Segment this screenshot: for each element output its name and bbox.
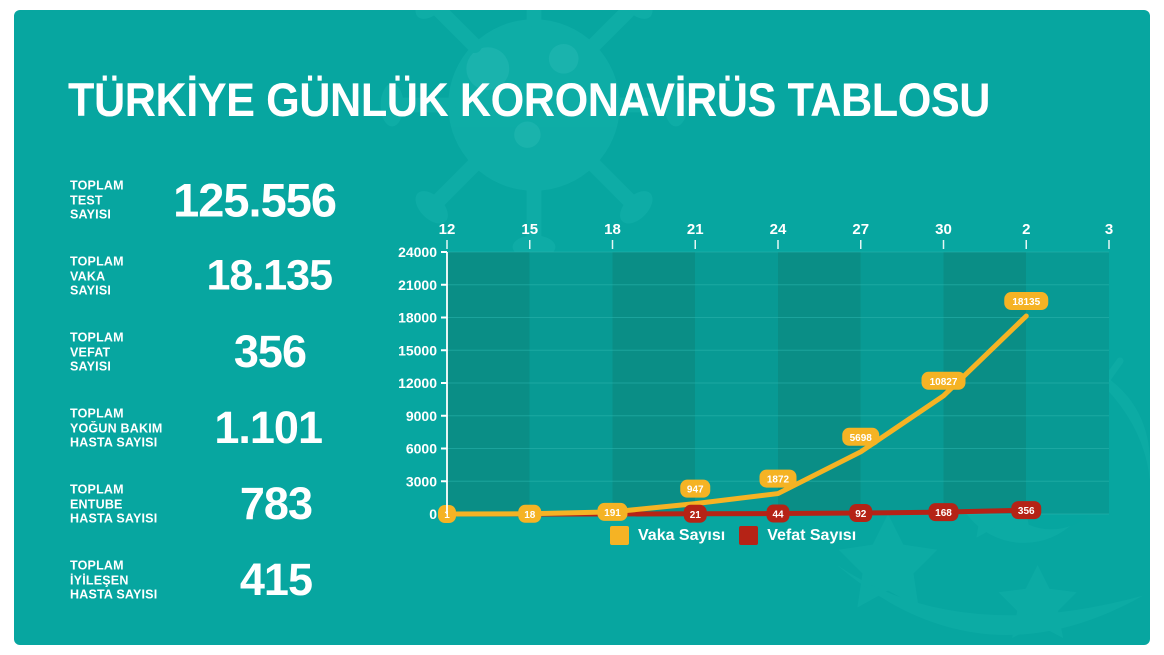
stat-value: 18.135 — [206, 252, 332, 301]
x-axis-tick-label: 21 — [687, 221, 704, 238]
data-point-label: 356 — [1018, 506, 1035, 517]
y-axis-tick-label: 15000 — [398, 342, 437, 358]
data-point-label: 168 — [935, 508, 952, 519]
y-axis-tick-label: 12000 — [398, 375, 437, 391]
page-title: TÜRKİYE GÜNLÜK KORONAVİRÜS TABLOSU — [68, 72, 990, 127]
y-axis-tick-label: 21000 — [398, 277, 437, 293]
stat-label: TOPLAM ENTUBE HASTA SAYISI — [70, 482, 157, 526]
y-axis-tick-label: 18000 — [398, 310, 437, 326]
y-axis-tick-label: 9000 — [406, 408, 437, 424]
square-swatch-icon — [610, 526, 629, 545]
x-axis-tick-label: 18 — [604, 221, 621, 238]
stat-value: 783 — [240, 478, 312, 530]
data-point-label: 10827 — [930, 377, 958, 388]
data-point-label: 191 — [604, 508, 621, 519]
stat-label: TOPLAM YOĞUN BAKIM HASTA SAYISI — [70, 406, 162, 450]
x-axis-tick-label: 27 — [852, 221, 869, 238]
stat-value: 356 — [234, 326, 306, 378]
x-axis-tick-label: 15 — [521, 221, 538, 238]
data-point-label: 92 — [855, 509, 867, 520]
data-point-label: 21 — [690, 510, 702, 521]
legend-label: Vefat Sayısı — [767, 527, 856, 545]
x-axis-tick-label: 2 — [1022, 221, 1030, 238]
x-axis-tick-label: 3 — [1105, 221, 1113, 238]
stat-value: 1.101 — [214, 402, 322, 454]
y-axis-tick-label: 24000 — [398, 244, 437, 260]
stat-block-total-cases: TOPLAM VAKA SAYISI 18.135 — [54, 238, 344, 314]
y-axis-tick-label: 6000 — [406, 441, 437, 457]
stat-block-intubated: TOPLAM ENTUBE HASTA SAYISI 783 — [54, 466, 344, 542]
stat-label: TOPLAM İYİLEŞEN HASTA SAYISI — [70, 558, 157, 602]
stat-value: 415 — [240, 554, 312, 606]
data-point-label: 1872 — [767, 475, 790, 486]
data-point-label: 44 — [772, 510, 784, 521]
stat-block-recovered: TOPLAM İYİLEŞEN HASTA SAYISI 415 — [54, 542, 344, 618]
stat-block-intensive-care: TOPLAM YOĞUN BAKIM HASTA SAYISI 1.101 — [54, 390, 344, 466]
stat-label: TOPLAM VAKA SAYISI — [70, 254, 124, 298]
x-axis-tick-label: 24 — [770, 221, 787, 238]
x-axis-tick-label: 12 — [439, 221, 456, 238]
data-point-label: 18 — [524, 510, 536, 521]
x-axis-tick-label: 30 — [935, 221, 952, 238]
dashboard-card: TÜRKİYE GÜNLÜK KORONAVİRÜS TABLOSU TOPLA… — [14, 10, 1150, 645]
legend-label: Vaka Sayısı — [638, 527, 725, 545]
data-point-label: 947 — [687, 485, 704, 496]
legend-item-deaths: Vefat Sayısı — [739, 526, 856, 545]
y-axis-tick-label: 3000 — [406, 473, 437, 489]
stat-label: TOPLAM TEST SAYISI — [70, 178, 124, 222]
cases-deaths-line-chart: 0300060009000120001500018000210002400012… — [369, 208, 1129, 558]
stat-value: 125.556 — [173, 173, 336, 228]
chart-legend: Vaka Sayısı Vefat Sayısı — [610, 526, 856, 545]
data-point-label: 5698 — [850, 433, 873, 444]
stat-label: TOPLAM VEFAT SAYISI — [70, 330, 124, 374]
data-point-label: 18135 — [1012, 297, 1040, 308]
stat-block-total-deaths: TOPLAM VEFAT SAYISI 356 — [54, 314, 344, 390]
y-axis-tick-label: 0 — [429, 506, 437, 522]
statistics-panel: TOPLAM TEST SAYISI 125.556 TOPLAM VAKA S… — [54, 162, 344, 618]
stat-block-total-tests: TOPLAM TEST SAYISI 125.556 — [54, 162, 344, 238]
legend-item-cases: Vaka Sayısı — [610, 526, 725, 545]
square-swatch-icon — [739, 526, 758, 545]
